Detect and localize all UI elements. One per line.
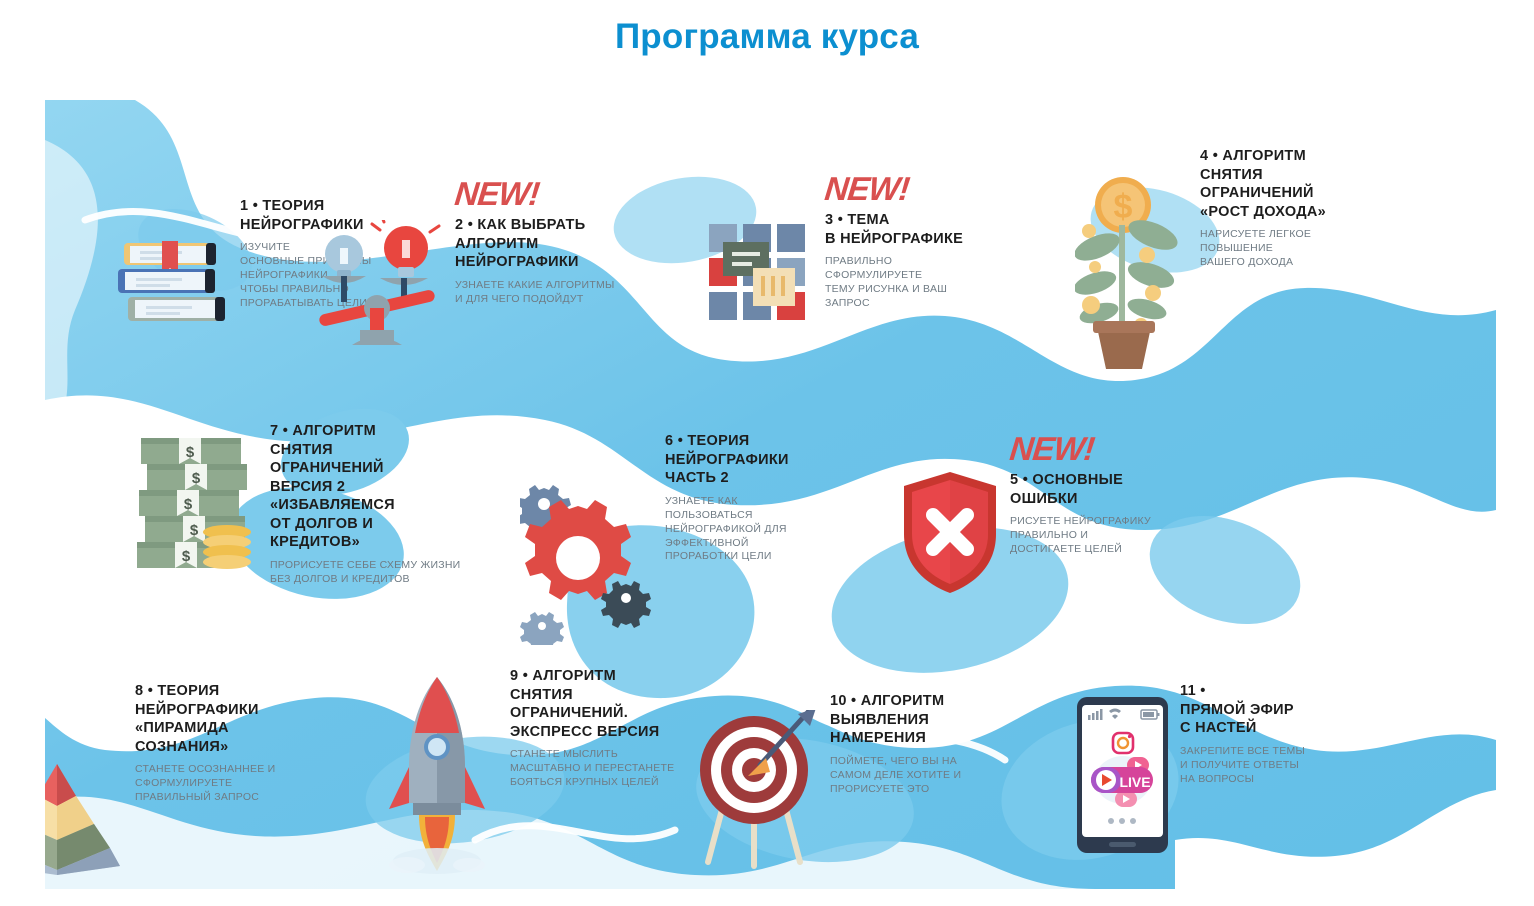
course-item-2[interactable]: NEW! 2 • КАК ВЫБРАТЬ АЛГОРИТМ НЕЙРОГРАФИ…: [430, 175, 740, 360]
course-item-title: 9 • АЛГОРИТМ СНЯТИЯ ОГРАНИЧЕНИЙ. ЭКСПРЕС…: [510, 667, 674, 741]
course-item-8[interactable]: 8 • ТЕОРИЯ НЕЙРОГРАФИКИ «ПИРАМИДА СОЗНАН…: [105, 680, 415, 880]
course-item-description: СТАНЕТЕ ОСОЗНАННЕЕ И СФОРМУЛИРУЕТЕ ПРАВИ…: [135, 763, 275, 805]
course-item-title: 5 • ОСНОВНЫЕ ОШИБКИ: [1010, 471, 1151, 508]
course-item-title: 8 • ТЕОРИЯ НЕЙРОГРАФИКИ «ПИРАМИДА СОЗНАН…: [135, 682, 275, 756]
course-item-description: ПРАВИЛЬНО СФОРМУЛИРУЕТЕ ТЕМУ РИСУНКА И В…: [825, 255, 963, 311]
course-item-title: 7 • АЛГОРИТМ СНЯТИЯ ОГРАНИЧЕНИЙ ВЕРСИЯ 2…: [270, 422, 460, 552]
course-item-description: ЗАКРЕПИТЕ ВСЕ ТЕМЫ И ПОЛУЧИТЕ ОТВЕТЫ НА …: [1180, 745, 1305, 787]
course-item-title: 11 • ПРЯМОЙ ЭФИР С НАСТЕЙ: [1180, 682, 1305, 738]
target-arrow-icon: [690, 710, 820, 875]
course-item-7[interactable]: $ $ $: [255, 420, 575, 587]
svg-text:$: $: [190, 522, 199, 539]
svg-text:$: $: [1114, 188, 1133, 226]
course-program-board: 1 • ТЕОРИЯ НЕЙРОГРАФИКИ ИЗУЧИТЕ ОСНОВНЫЕ…: [45, 100, 1496, 889]
svg-text:$: $: [186, 444, 195, 461]
course-item-description: РИСУЕТЕ НЕЙРОГРАФИКУ ПРАВИЛЬНО И ДОСТИГА…: [1010, 515, 1151, 557]
course-item-title: 6 • ТЕОРИЯ НЕЙРОГРАФИКИ ЧАСТЬ 2: [665, 432, 789, 488]
balance-scale-lightbulbs-icon: [310, 220, 445, 360]
course-item-3[interactable]: NEW! 3 • ТЕМА В НЕЙРОГРАФИКЕ ПРАВИЛЬНО С…: [800, 170, 1100, 335]
squares-grid-notes-icon: [705, 220, 815, 335]
course-item-description: ПОЙМЕТЕ, ЧЕГО ВЫ НА САМОМ ДЕЛЕ ХОТИТЕ И …: [830, 755, 961, 797]
course-item-5[interactable]: NEW! 5 • ОСНОВНЫЕ ОШИБКИ РИСУЕТЕ НЕЙРОГР…: [995, 430, 1315, 600]
course-item-title: 10 • АЛГОРИТМ ВЫЯВЛЕНИЯ НАМЕРЕНИЯ: [830, 692, 961, 748]
course-item-description: УЗНАЕТЕ КАКИЕ АЛГОРИТМЫ И ДЛЯ ЧЕГО ПОДОЙ…: [455, 279, 615, 307]
live-badge-label: LIVE: [1119, 774, 1150, 790]
new-badge: NEW!: [453, 177, 616, 210]
page-title: Программа курса: [0, 0, 1534, 58]
pyramid-icon: [45, 760, 125, 880]
course-item-title: 2 • КАК ВЫБРАТЬ АЛГОРИТМ НЕЙРОГРАФИКИ: [455, 216, 615, 272]
svg-text:$: $: [184, 496, 193, 513]
new-badge: NEW!: [1008, 432, 1152, 465]
new-badge: NEW!: [823, 172, 965, 205]
svg-text:$: $: [182, 548, 191, 565]
money-plant-icon: $: [1075, 175, 1190, 375]
rocket-icon: [385, 675, 500, 880]
course-item-4[interactable]: $ 4 • АЛГОРИТМ: [1185, 145, 1496, 375]
course-item-description: СТАНЕТЕ МЫСЛИТЬ МАСШТАБНО И ПЕРЕСТАНЕТЕ …: [510, 748, 674, 790]
course-item-6[interactable]: 6 • ТЕОРИЯ НЕЙРОГРАФИКИ ЧАСТЬ 2 УЗНАЕТЕ …: [650, 430, 960, 650]
books-icon: [110, 235, 230, 345]
phone-live-stream-icon: LIVE: [1075, 695, 1170, 860]
course-item-title: 4 • АЛГОРИТМ СНЯТИЯ ОГРАНИЧЕНИЙ «РОСТ ДО…: [1200, 147, 1326, 221]
course-item-description: НАРИСУЕТЕ ЛЕГКОЕ ПОВЫШЕНИЕ ВАШЕГО ДОХОДА: [1200, 228, 1326, 270]
svg-text:$: $: [192, 470, 201, 487]
money-stacks-icon: $ $ $: [135, 432, 260, 582]
course-item-11[interactable]: LIVE 11 • ПРЯМОЙ ЭФИР С НАСТЕЙ ЗАКРЕПИТЕ…: [1185, 680, 1496, 860]
course-item-title: 3 • ТЕМА В НЕЙРОГРАФИКЕ: [825, 211, 963, 248]
course-item-description: ПРОРИСУЕТЕ СЕБЕ СХЕМУ ЖИЗНИ БЕЗ ДОЛГОВ И…: [270, 559, 460, 587]
course-item-description: УЗНАЕТЕ КАК ПОЛЬЗОВАТЬСЯ НЕЙРОГРАФИКОЙ Д…: [665, 495, 789, 565]
